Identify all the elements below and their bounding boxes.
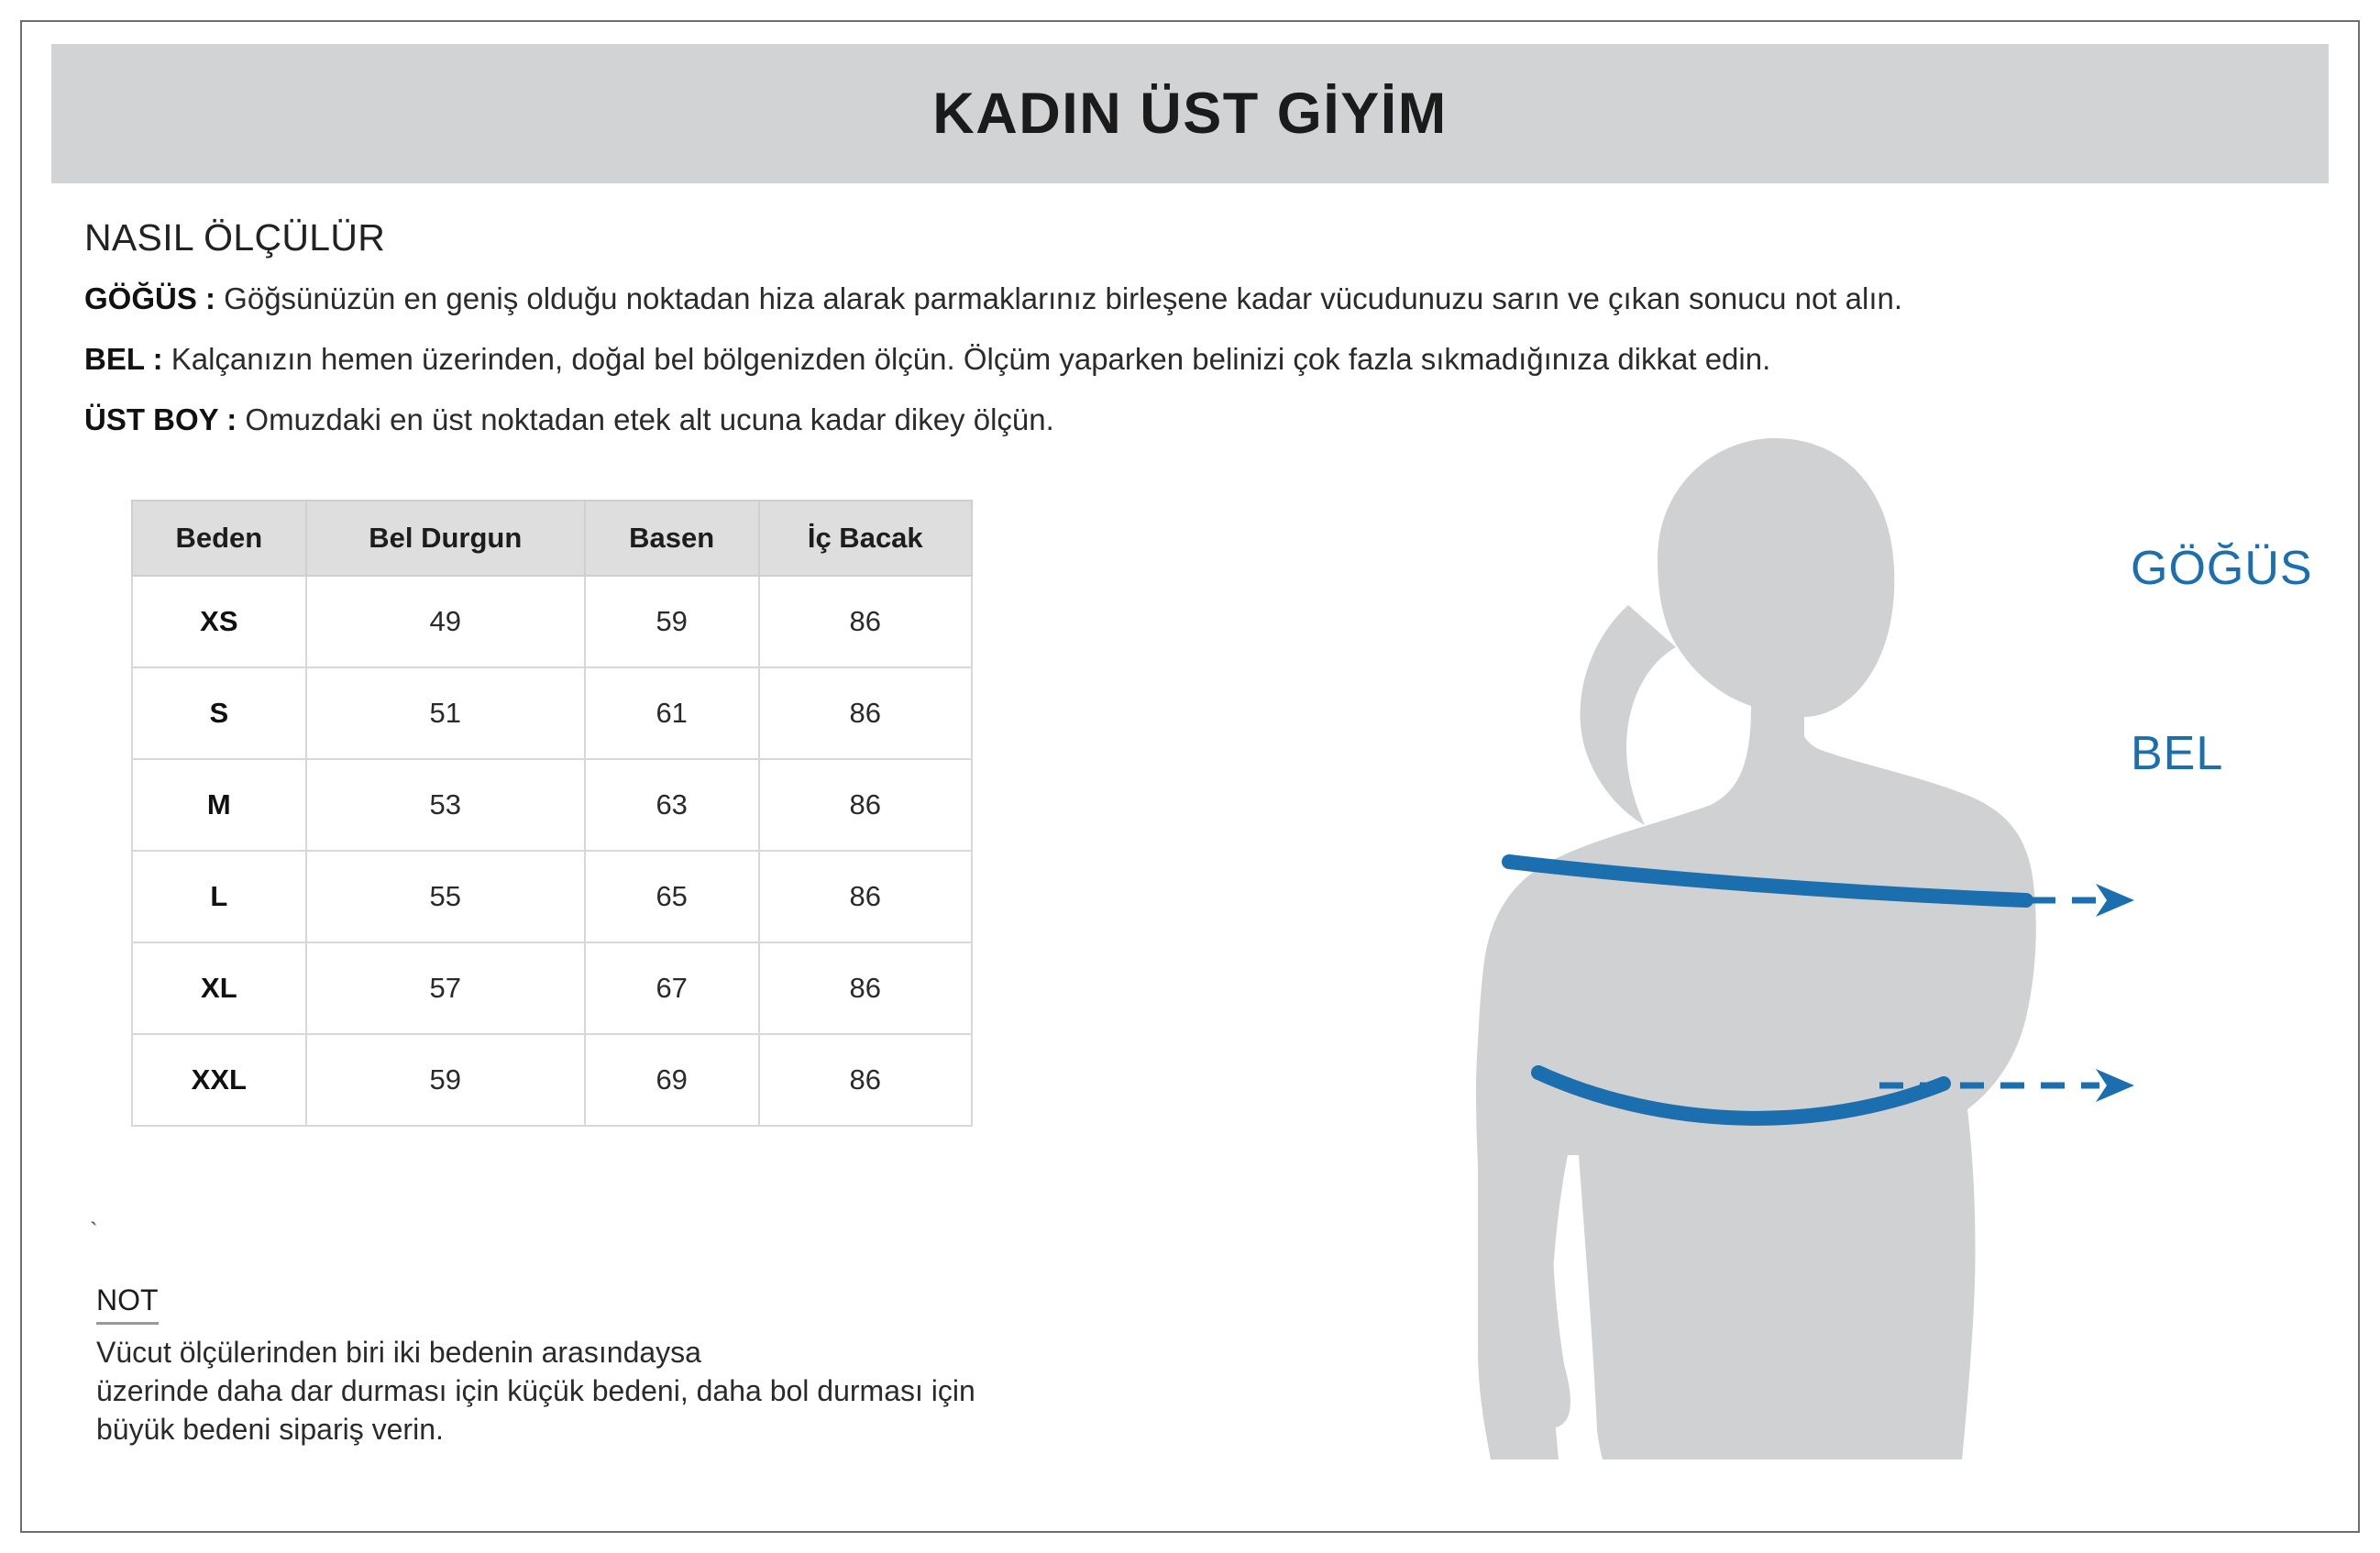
title-banner: KADIN ÜST GİYİM — [51, 44, 2329, 183]
col-header-beden: Beden — [132, 501, 306, 576]
cell-bel-durgun: 51 — [306, 667, 585, 759]
cell-ic-bacak: 86 — [759, 1034, 972, 1126]
table-row: XXL 59 69 86 — [132, 1034, 972, 1126]
col-header-basen: Basen — [585, 501, 759, 576]
cell-bel-durgun: 59 — [306, 1034, 585, 1126]
cell-bel-durgun: 53 — [306, 759, 585, 851]
cell-beden: L — [132, 851, 306, 942]
waist-arrowhead-icon — [2096, 1069, 2134, 1102]
measure-text-uppertop-length: Omuzdaki en üst noktadan etek alt ucuna … — [237, 402, 1054, 436]
note-body: Vücut ölçülerinden biri iki bedenin aras… — [96, 1333, 1334, 1449]
cell-bel-durgun: 49 — [306, 576, 585, 667]
cell-basen: 59 — [585, 576, 759, 667]
note-line-1: Vücut ölçülerinden biri iki bedenin aras… — [96, 1333, 1334, 1371]
note-line-2: üzerinde daha dar durması için küçük bed… — [96, 1371, 1334, 1410]
bust-arrowhead-icon — [2096, 884, 2134, 917]
table-header-row: Beden Bel Durgun Basen İç Bacak — [132, 501, 972, 576]
cell-beden: XXL — [132, 1034, 306, 1126]
measure-line-uppertop-length: ÜST BOY : Omuzdaki en üst noktadan etek … — [84, 404, 1441, 435]
note-line-3: büyük bedeni sipariş verin. — [96, 1410, 1334, 1448]
measure-text-waist: Kalçanızın hemen üzerinden, doğal bel bö… — [163, 342, 1771, 376]
size-table: Beden Bel Durgun Basen İç Bacak XS 49 59… — [131, 500, 973, 1127]
instructions-block: NASIL ÖLÇÜLÜR GÖĞÜS : Göğsünüzün en geni… — [84, 216, 1441, 465]
cell-beden: XL — [132, 942, 306, 1034]
measure-label-bust: GÖĞÜS : — [84, 281, 215, 315]
table-row: M 53 63 86 — [132, 759, 972, 851]
cell-bel-durgun: 57 — [306, 942, 585, 1034]
cell-bel-durgun: 55 — [306, 851, 585, 942]
body-figure-area: GÖĞÜS BEL — [1449, 431, 2356, 1467]
col-header-ic-bacak: İç Bacak — [759, 501, 972, 576]
cell-basen: 69 — [585, 1034, 759, 1126]
col-header-bel-durgun: Bel Durgun — [306, 501, 585, 576]
table-row: XS 49 59 86 — [132, 576, 972, 667]
waist-label: BEL — [2131, 726, 2223, 781]
measure-text-bust: Göğsünüzün en geniş olduğu noktadan hiza… — [215, 281, 1902, 315]
note-title: NOT — [96, 1283, 159, 1325]
cell-basen: 63 — [585, 759, 759, 851]
cell-beden: S — [132, 667, 306, 759]
measure-label-waist: BEL : — [84, 342, 163, 376]
measure-line-waist: BEL : Kalçanızın hemen üzerinden, doğal … — [84, 344, 1441, 374]
instructions-heading: NASIL ÖLÇÜLÜR — [84, 216, 1441, 259]
measure-line-bust: GÖĞÜS : Göğsünüzün en geniş olduğu nokta… — [84, 283, 1441, 314]
cell-basen: 67 — [585, 942, 759, 1034]
stray-tick-mark: ` — [90, 1219, 98, 1243]
cell-ic-bacak: 86 — [759, 667, 972, 759]
measure-label-uppertop-length: ÜST BOY : — [84, 402, 237, 436]
cell-ic-bacak: 86 — [759, 942, 972, 1034]
bust-label: GÖĞÜS — [2131, 541, 2313, 596]
page-title: KADIN ÜST GİYİM — [932, 81, 1448, 147]
table-row: L 55 65 86 — [132, 851, 972, 942]
silhouette-shape — [1476, 438, 2036, 1459]
cell-ic-bacak: 86 — [759, 576, 972, 667]
cell-beden: M — [132, 759, 306, 851]
table-row: XL 57 67 86 — [132, 942, 972, 1034]
cell-ic-bacak: 86 — [759, 851, 972, 942]
cell-beden: XS — [132, 576, 306, 667]
cell-basen: 65 — [585, 851, 759, 942]
cell-ic-bacak: 86 — [759, 759, 972, 851]
cell-basen: 61 — [585, 667, 759, 759]
table-row: S 51 61 86 — [132, 667, 972, 759]
size-chart-page: KADIN ÜST GİYİM NASIL ÖLÇÜLÜR GÖĞÜS : Gö… — [0, 0, 2380, 1553]
note-block: NOT Vücut ölçülerinden biri iki bedenin … — [96, 1283, 1334, 1449]
